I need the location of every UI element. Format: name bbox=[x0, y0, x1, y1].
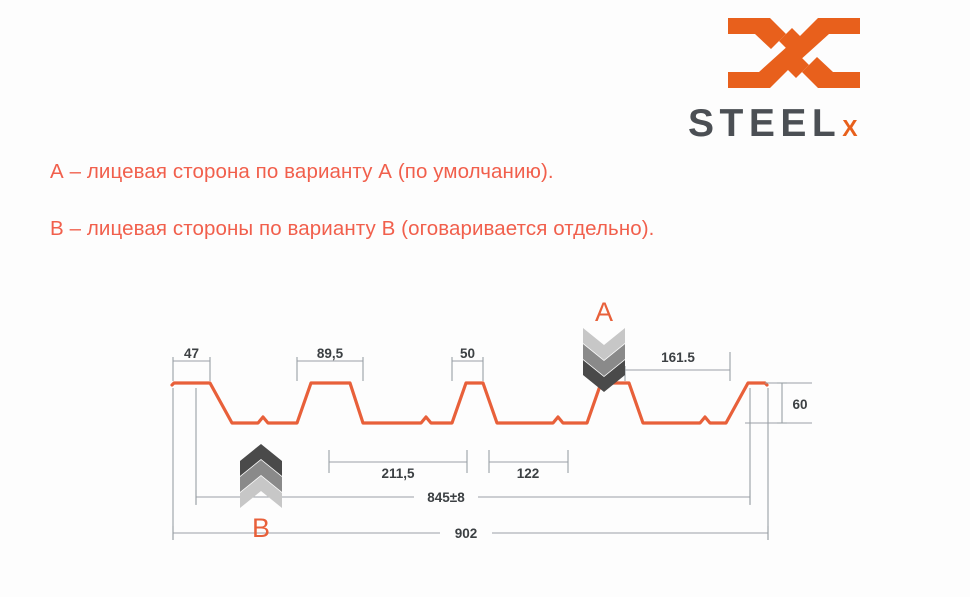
dim-161-5-label: 161.5 bbox=[661, 350, 695, 365]
dim-211-5-label: 211,5 bbox=[381, 466, 415, 481]
dim-60-label: 60 bbox=[792, 397, 807, 412]
dim-60: 60 bbox=[745, 383, 812, 423]
dim-89-5: 89,5 bbox=[297, 346, 363, 381]
profile-technical-drawing: .dimline { stroke: #9aa0a6; stroke-width… bbox=[0, 0, 970, 597]
dim-211-5: 211,5 bbox=[329, 450, 467, 481]
dim-50: 50 bbox=[452, 346, 483, 381]
dim-89-5-label: 89,5 bbox=[317, 346, 344, 361]
dim-845-label: 845±8 bbox=[427, 490, 465, 505]
dim-161-5: 161.5 bbox=[625, 350, 730, 381]
dim-122: 122 bbox=[489, 450, 568, 481]
profile-cross-section-path bbox=[172, 383, 767, 423]
marker-a: A bbox=[583, 297, 625, 392]
dim-47: 47 bbox=[173, 346, 210, 381]
dim-47-label: 47 bbox=[184, 346, 199, 361]
marker-b-chevron-icon bbox=[240, 444, 282, 508]
dim-122-label: 122 bbox=[517, 466, 540, 481]
marker-b: B bbox=[240, 444, 282, 543]
marker-a-label: A bbox=[595, 297, 613, 327]
marker-b-label: B bbox=[252, 513, 270, 543]
dim-50-label: 50 bbox=[460, 346, 475, 361]
dim-902-label: 902 bbox=[455, 526, 478, 541]
